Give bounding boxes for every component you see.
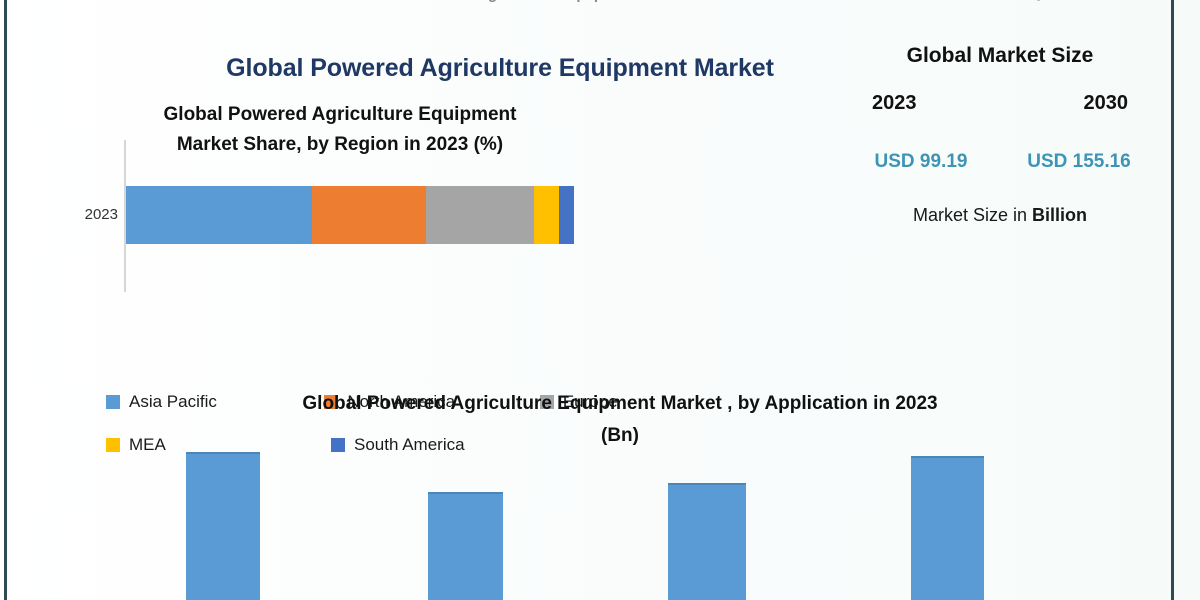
market-value-2023: USD 99.19 [846,151,996,173]
region-segment-europe [426,186,534,244]
infographic-canvas: Powered Agriculture Equipment Global Pow… [0,0,1200,600]
region-segment-asia-pacific [126,186,312,244]
page-title: Global Powered Agriculture Equipment Mar… [150,54,850,83]
region-chart-title-line2: Market Share, by Region in 2023 (%) [60,130,620,160]
region-share-chart: Global Powered Agriculture Equipment Mar… [20,100,640,380]
market-size-unit-value: Billion [1032,205,1087,225]
market-size-unit-note: Market Size in Billion [830,205,1170,226]
application-bar-2 [428,492,503,600]
top-clipped-caption: Powered Agriculture Equipment [300,0,750,3]
region-chart-title-line1: Global Powered Agriculture Equipment [60,100,620,130]
global-market-size-label: Global Market Size [830,44,1170,68]
region-segment-north-america [312,186,426,244]
market-value-2030: USD 155.16 [1004,151,1154,173]
region-chart-title: Global Powered Agriculture Equipment Mar… [60,100,620,160]
application-chart-title-line1: Global Powered Agriculture Equipment Mar… [180,388,1060,420]
market-size-year-row: 2023 2030 [830,92,1170,115]
year-label-2023: 2023 [872,92,917,115]
region-chart-category-label: 2023 [64,206,118,223]
application-bar-3 [668,483,746,600]
market-size-unit-prefix: Market Size in [913,205,1032,225]
market-size-panel: a CAGR of 6.6% during 2024-2030 Global M… [830,0,1170,226]
application-bar-chart [0,440,1200,600]
application-bar-4 [911,456,984,600]
region-stacked-bar [126,186,574,244]
region-segment-mea [534,186,560,244]
market-size-value-row: USD 99.19 USD 155.16 [830,151,1170,173]
cagr-text: a CAGR of 6.6% during 2024-2030 [830,0,1170,6]
year-label-2030: 2030 [1084,92,1129,115]
region-segment-south-america [559,186,574,244]
application-bar-1 [186,452,260,600]
legend-swatch-asia-pacific [106,395,120,409]
